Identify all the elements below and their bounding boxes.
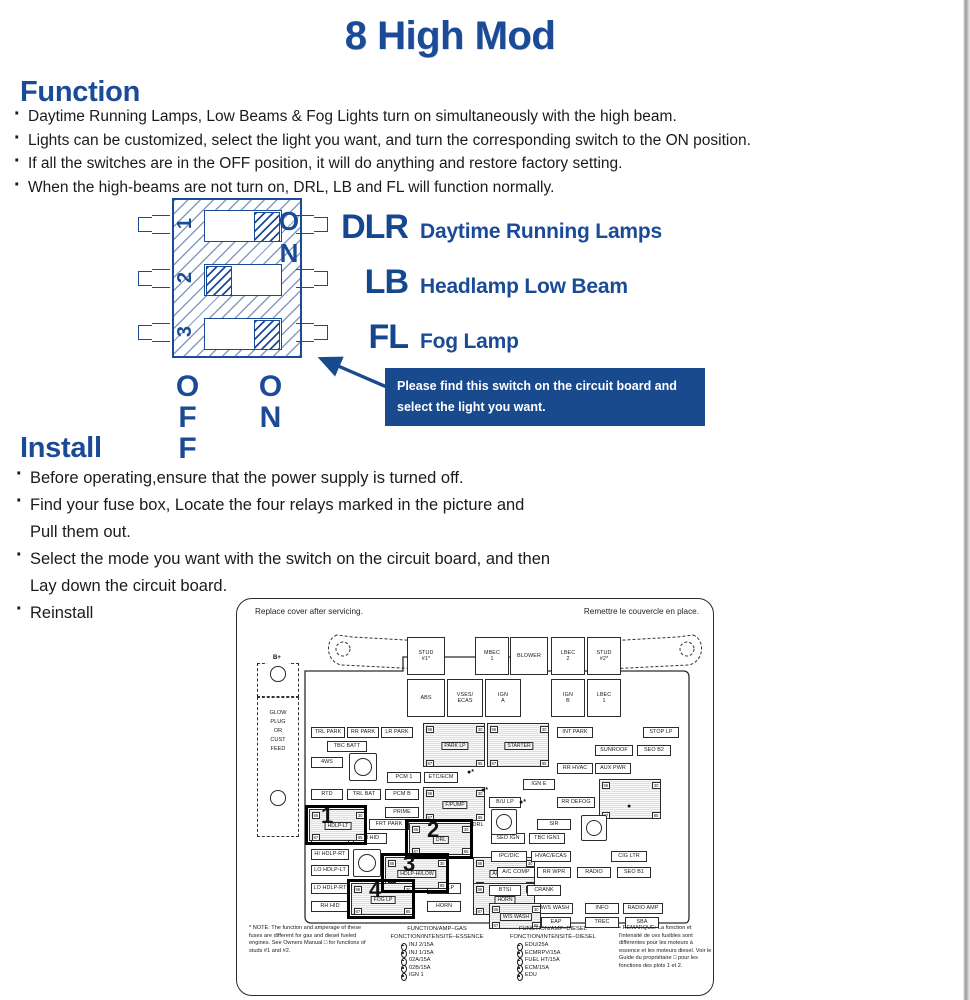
page-root: 8 High Mod Function Daytime Running Lamp…: [0, 0, 970, 1000]
fuse-trl-bat: TRL BAT: [347, 789, 381, 800]
glow-plug-label: GLOW PLUG OR CUST FEED: [260, 709, 296, 754]
fuse-vses-ecas: VSES/ECAS: [447, 679, 483, 717]
dip-slot-1: [204, 210, 282, 242]
relay-label-starter: STARTER: [504, 742, 533, 750]
fuse-pcm-b: PCM B: [385, 789, 419, 800]
fuse-rr-defog: RR DEFOG: [557, 797, 595, 808]
fuse-bu-lp: B/U LP: [489, 797, 521, 808]
legend-full-fl: Fog Lamp: [420, 330, 519, 354]
fuse-lbec-2: LBEC2: [551, 637, 585, 675]
fusebox-inner: B+ GLOW PLUG OR CUST FEED: [251, 627, 703, 925]
fuse-ws-wash: W/S WASH: [537, 903, 573, 914]
fuse-trl-park: TRL PARK: [311, 727, 345, 738]
relay-label-park-lp: PARK LP: [441, 742, 468, 750]
fuse-4ws: 4WS: [311, 757, 343, 768]
callout-line-2: select the light you want.: [397, 397, 693, 418]
circuit-breaker-right-1: [491, 809, 517, 835]
circuit-breaker-left-2: [353, 849, 381, 877]
fuse-int-park: INT PARK: [557, 727, 593, 738]
legend-row-dlr: DLR Daytime Running Lamps: [330, 208, 730, 247]
fuse-prime: PRIME: [385, 807, 419, 818]
function-bullet: If all the switches are in the OFF posit…: [10, 152, 810, 176]
relay-pin-86: 86: [490, 726, 499, 733]
fuse-etc-ecm: ETC/ECM: [424, 772, 458, 783]
fuse-tbc-ign1: TBC IGN1: [529, 833, 565, 844]
relay-rr-defog: 86 30 87 85: [599, 779, 661, 819]
fuse-rtd: RTD: [311, 789, 343, 800]
fuse-pcm-1: PCM 1: [387, 772, 421, 783]
relay-pin-86: 86: [426, 790, 435, 797]
callout-line-1: Please find this switch on the circuit b…: [397, 376, 693, 397]
relay-pin-85: 85: [540, 760, 549, 767]
legend-diesel-title-2: FONCTION/INTENSITÉ–DIESEL: [493, 933, 613, 941]
relay-pin-30: 30: [652, 782, 661, 789]
circuit-breaker-left-1: [349, 753, 377, 781]
fuse-rh-hid: RH HID: [311, 901, 349, 912]
fusebox-note-en: Replace cover after servicing.: [255, 607, 363, 616]
install-bullet-continued: Pull them out.: [12, 519, 652, 546]
legend-diesel-title-1: FUNCTION/AMP–DIESEL: [493, 925, 613, 933]
fusebox-legend: * NOTE: The function and amperage of the…: [237, 923, 713, 991]
dip-pin-left-1: [138, 213, 172, 235]
fuse-lo-hdlp-lt: LO HDLP-LT: [311, 865, 349, 876]
dip-pin-left-3: [138, 321, 172, 343]
fuse-crank: CRANK: [527, 885, 561, 896]
marked-relay-number-4: 4: [369, 877, 381, 903]
relay-pin-30: 30: [476, 726, 485, 733]
callout-arrow-icon: [313, 352, 393, 392]
dip-slot-2: [204, 264, 282, 296]
dip-switch-row-3[interactable]: 3: [174, 314, 304, 354]
fuse-ipc-dic: IPC/DIC: [491, 851, 527, 862]
relay-pin-86: 86: [602, 782, 611, 789]
fuse-ign-b: IGNB: [551, 679, 585, 717]
dip-switch-number-2: 2: [174, 272, 197, 283]
legend-abbr-dlr: DLR: [330, 208, 408, 247]
fuse-horn: HORN: [427, 901, 461, 912]
fusebox-note-fr: Remettre le couvercle en place.: [584, 607, 699, 616]
relay-pin-87: 87: [490, 760, 499, 767]
relay-pin-30: 30: [540, 726, 549, 733]
dip-switch-number-1: 1: [174, 218, 197, 229]
fuse-lo-hdlp-rt: LO HDLP-RT: [311, 883, 349, 894]
fuse-cig-ltr: CIG LTR: [611, 851, 647, 862]
legend-gas-item: INJ 2/15A: [401, 942, 497, 950]
fusebox-legend-fr: • REMARQUE: La fonction et l'intensité d…: [619, 925, 715, 971]
relay-f-pump: 86 30 87 85 F/PUMP: [423, 787, 485, 821]
dip-on-label: ON: [273, 206, 304, 270]
legend-diesel-item: FUEL HT/15A: [517, 957, 613, 965]
switch-on-label: ON: [258, 370, 282, 432]
relay-label-ws-wash: W/S WASH: [500, 913, 532, 921]
relay-pin-86: 86: [476, 860, 485, 867]
relay-starter: 86 30 87 85 STARTER: [487, 723, 549, 767]
relay-pin-87: 87: [476, 908, 485, 915]
fuse-stop-lp: STOP LP: [643, 727, 679, 738]
legend-full-dlr: Daytime Running Lamps: [420, 220, 662, 244]
callout-box: Please find this switch on the circuit b…: [385, 368, 705, 426]
fuse-abs: ABS: [407, 679, 445, 717]
dip-slot-3: [204, 318, 282, 350]
scrollbar-rail[interactable]: [960, 0, 970, 1000]
fuse-radio-amp: RADIO AMP: [623, 903, 663, 914]
marked-relay-number-3: 3: [403, 851, 415, 877]
function-bullet-list: Daytime Running Lamps, Low Beams & Fog L…: [10, 105, 810, 199]
lamp-legend: DLR Daytime Running Lamps LB Headlamp Lo…: [330, 208, 730, 373]
legend-gas-title-1: FUNCTION/AMP–GAS: [377, 925, 497, 933]
legend-gas-item: 02B/15A: [401, 965, 497, 973]
fuse-blower: BLOWER: [510, 637, 548, 675]
fuse-radio: RADIO: [577, 867, 611, 878]
fuse-rr-wpr: RR WPR: [537, 867, 571, 878]
fusebox-legend-en: * NOTE: The function and amperage of the…: [249, 925, 369, 955]
fuse-sir: SIR: [537, 819, 571, 830]
fuse-aux-pwr: AUX PWR: [595, 763, 631, 774]
b-plus-label: B+: [273, 655, 281, 661]
stud-marker-1: ●*: [467, 769, 474, 776]
dip-switch-body: 1 2 3 ON: [172, 198, 302, 358]
marked-relay-box-1: [305, 805, 367, 845]
legend-diesel-item: EDU: [517, 972, 613, 980]
relay-pin-87: 87: [426, 760, 435, 767]
relay-pin-86: 86: [476, 886, 485, 893]
fuse-seo-b2: SEO B2: [637, 745, 671, 756]
fuse-hvac-ecas: HVAC/ECAS: [531, 851, 571, 862]
legend-diesel-item: ECMRPV/15A: [517, 950, 613, 958]
stud-terminal-icon-glow: [267, 787, 289, 809]
fuse-tbc-batt: TBC BATT: [327, 741, 367, 752]
dip-switch-diagram: 1 2 3 ON: [138, 198, 328, 368]
fuse-rr-hvac: RR HVAC: [557, 763, 593, 774]
legend-diesel-item: ECM/15A: [517, 965, 613, 973]
relay-pin-85: 85: [652, 812, 661, 819]
install-heading: Install: [20, 432, 102, 465]
marked-relay-number-1: 1: [321, 803, 333, 829]
stud-marker-2: ●*: [481, 787, 488, 794]
install-bullet: Select the mode you want with the switch…: [12, 546, 652, 573]
legend-gas-item: 02A/15A: [401, 957, 497, 965]
fuse-stud-2: STUD#2*: [587, 637, 621, 675]
fuse-ign-e: IGN E: [523, 779, 555, 790]
dip-lever-2[interactable]: [206, 266, 232, 296]
function-bullet: Daytime Running Lamps, Low Beams & Fog L…: [10, 105, 810, 129]
fuse-box-diagram: Replace cover after servicing. Remettre …: [236, 598, 714, 996]
relay-pin-85: 85: [476, 760, 485, 767]
fuse-lr-park: LR PARK: [381, 727, 413, 738]
fuse-stud-1: STUD#1*: [407, 637, 445, 675]
legend-diesel-item: EDU/25A: [517, 942, 613, 950]
legend-abbr-lb: LB: [330, 263, 408, 302]
legend-gas-title-2: FONCTION/INTENSITÉ–ESSENCE: [377, 933, 497, 941]
relay-pin-85: 85: [476, 814, 485, 821]
fuse-sunroof: SUNROOF: [595, 745, 633, 756]
dip-lever-3[interactable]: [254, 320, 280, 350]
fuse-mbec-1: MBEC1: [475, 637, 509, 675]
fuse-info: INFO: [585, 903, 619, 914]
function-bullet: Lights can be customized, select the lig…: [10, 129, 810, 153]
stud-terminal-icon-bplus: [267, 663, 289, 685]
fusebox-legend-diesel: FUNCTION/AMP–DIESEL FONCTION/INTENSITÉ–D…: [493, 925, 613, 980]
relay-label-f-pump: F/PUMP: [442, 801, 467, 809]
function-bullet: When the high-beams are not turn on, DRL…: [10, 176, 810, 200]
relay-park-lp: 86 30 87 85 PARK LP: [423, 723, 485, 767]
fuse-ac-comp: A/C COMP: [497, 867, 535, 878]
fuse-frt-park: FRT PARK: [369, 819, 409, 830]
fuse-hi-hdlp-rt: HI HDLP-RT: [311, 849, 349, 860]
dip-switch-number-3: 3: [174, 326, 197, 337]
fusebox-legend-gas: FUNCTION/AMP–GAS FONCTION/INTENSITÉ–ESSE…: [377, 925, 497, 980]
switch-off-label: OFF: [175, 370, 199, 463]
install-bullet-continued: Lay down the circuit board.: [12, 573, 652, 600]
legend-full-lb: Headlamp Low Beam: [420, 275, 628, 299]
install-bullet: Before operating,ensure that the power s…: [12, 465, 652, 492]
legend-gas-item: INJ 1/15A: [401, 950, 497, 958]
fuse-ign-a: IGNA: [485, 679, 521, 717]
relay-pin-30: 30: [532, 906, 541, 913]
install-bullet: Find your fuse box, Locate the four rela…: [12, 492, 652, 519]
circuit-breaker-right-2: [581, 815, 607, 841]
fuse-lbec-1: LBEC1: [587, 679, 621, 717]
dip-pin-left-2: [138, 267, 172, 289]
relay-pin-86: 86: [426, 726, 435, 733]
fuse-btsi: BTSI: [489, 885, 521, 896]
legend-row-lb: LB Headlamp Low Beam: [330, 263, 730, 302]
stud-marker-3: ●*: [519, 799, 526, 806]
fuse-seo-b1: SEO B1: [617, 867, 651, 878]
fuse-rr-park: RR PARK: [347, 727, 379, 738]
relay-pin-86: 86: [492, 906, 501, 913]
legend-gas-item: IGN 1: [401, 972, 497, 980]
page-title: 8 High Mod: [0, 14, 900, 59]
stud-marker-4: ●: [627, 803, 631, 810]
marked-relay-number-2: 2: [427, 817, 439, 843]
